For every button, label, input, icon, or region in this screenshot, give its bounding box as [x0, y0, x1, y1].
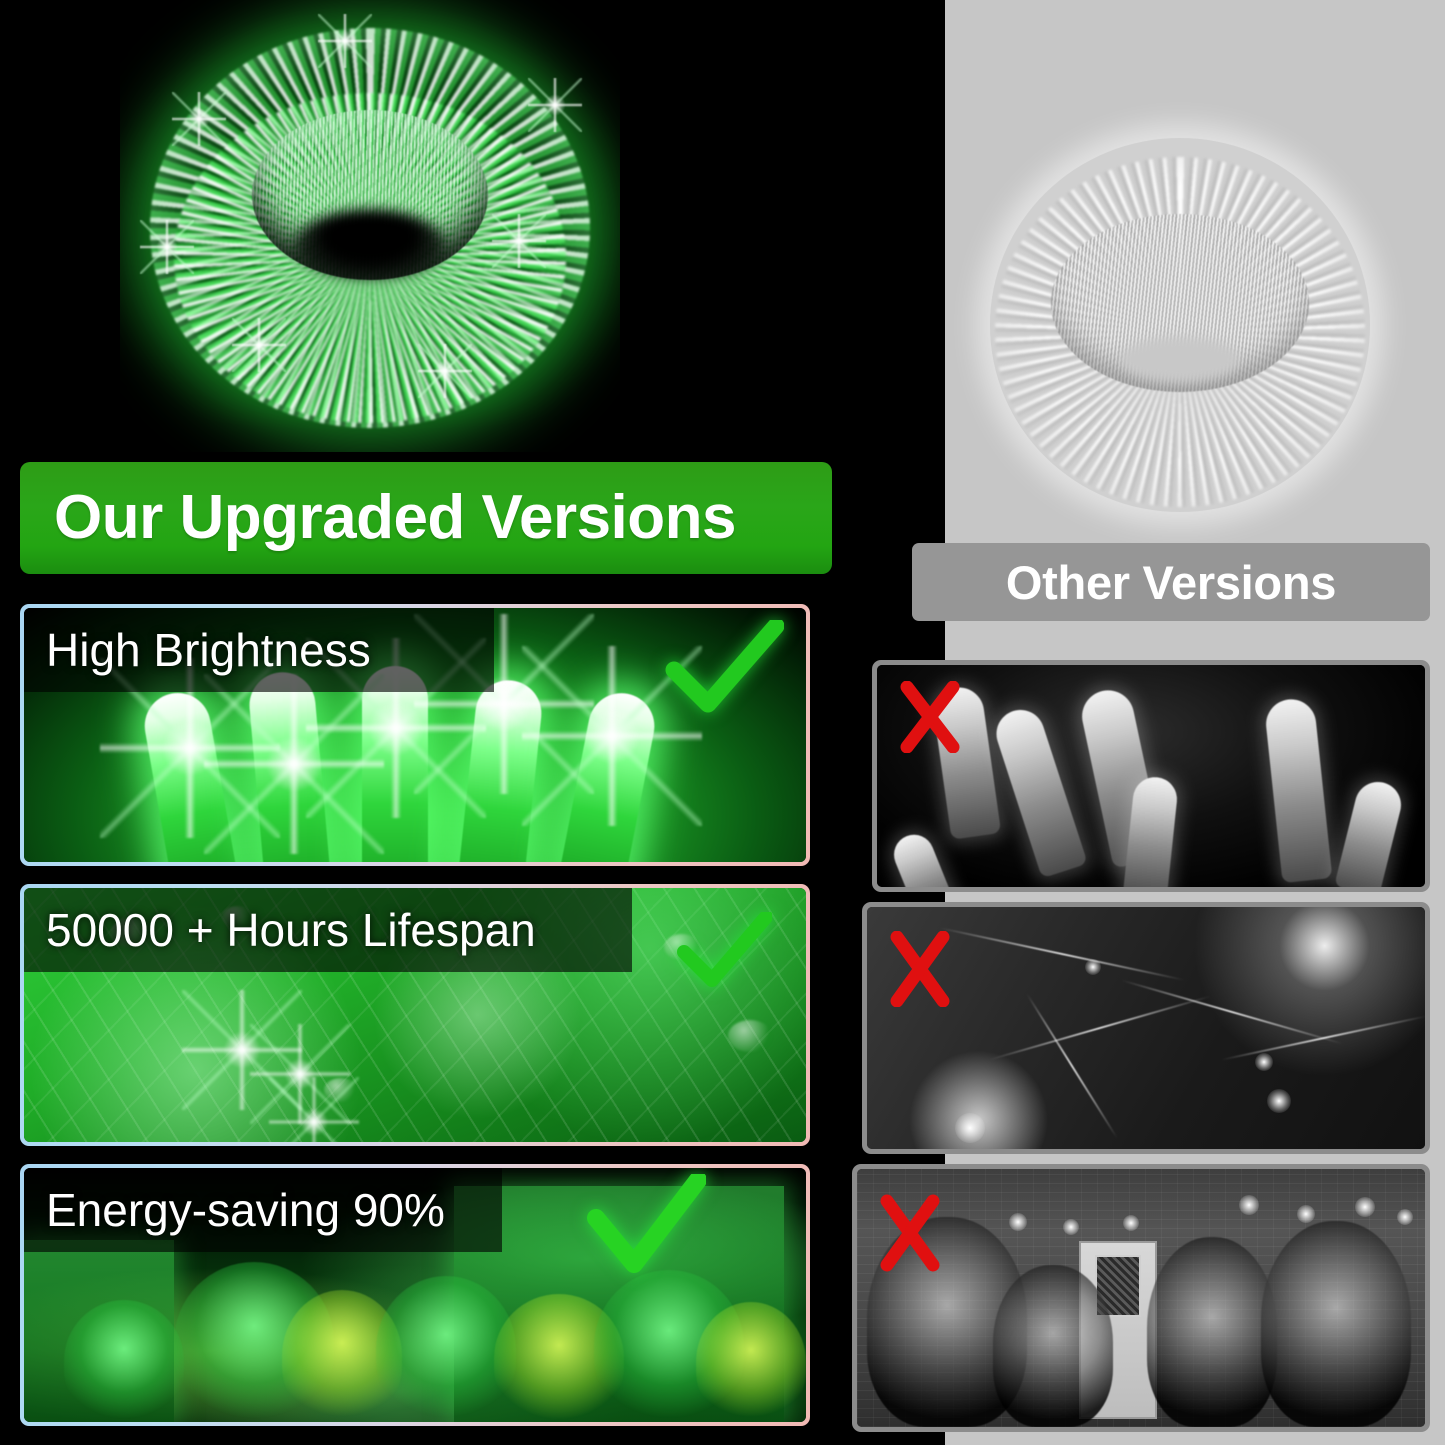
- other-panel-dim-bulbs: [872, 660, 1430, 892]
- cross-icon: [899, 681, 961, 753]
- grey-coil-vignette: [990, 138, 1370, 512]
- check-icon: [676, 912, 772, 990]
- dull-bulb: [888, 829, 958, 887]
- feature-caption-text: Energy-saving 90%: [46, 1187, 445, 1233]
- dull-bulb: [990, 704, 1088, 879]
- lit-point: [1123, 1215, 1139, 1231]
- check-icon: [586, 1174, 706, 1274]
- feature-caption: Energy-saving 90%: [24, 1168, 502, 1252]
- upgraded-versions-section: Our Upgraded Versions High Bri: [0, 0, 945, 1445]
- dull-bulb: [1264, 697, 1333, 883]
- feature-panel-high-brightness: High Brightness: [20, 604, 810, 866]
- lit-point: [1297, 1205, 1315, 1223]
- cross-icon: [889, 931, 951, 1007]
- cross-icon: [879, 1193, 941, 1273]
- other-versions-label: Other Versions: [1006, 559, 1336, 606]
- upgraded-versions-label: Our Upgraded Versions: [54, 487, 736, 549]
- wire-strand: [940, 927, 1185, 981]
- grey-tree: [1261, 1221, 1411, 1427]
- feature-panel-lifespan: 50000 + Hours Lifespan: [20, 884, 810, 1146]
- lit-point: [955, 1113, 985, 1143]
- wire-strand: [1221, 1015, 1425, 1061]
- feature-caption-text: 50000 + Hours Lifespan: [46, 907, 536, 953]
- grey-tree: [993, 1265, 1113, 1427]
- lit-point: [1267, 1089, 1291, 1113]
- feature-panel-energy-saving: Energy-saving 90%: [20, 1164, 810, 1426]
- lit-point: [1085, 959, 1101, 975]
- sparkle-icon: [269, 1077, 359, 1142]
- lit-point: [1239, 1195, 1259, 1215]
- grey-house-image: [857, 1169, 1425, 1427]
- upgraded-versions-banner: Our Upgraded Versions: [20, 462, 832, 574]
- lit-point: [1255, 1053, 1273, 1071]
- other-panel-grey-house: [852, 1164, 1430, 1432]
- feature-caption-text: High Brightness: [46, 627, 371, 673]
- other-panel-faint-wire: [862, 902, 1430, 1154]
- feature-caption: High Brightness: [24, 608, 494, 692]
- lit-point: [1063, 1219, 1079, 1235]
- lit-point: [1009, 1213, 1027, 1231]
- lit-point: [1397, 1209, 1413, 1225]
- lit-point: [1355, 1197, 1375, 1217]
- feature-caption: 50000 + Hours Lifespan: [24, 888, 632, 972]
- green-led-coil-image: [120, 0, 620, 452]
- sparkle-icon: [204, 674, 384, 854]
- grey-led-coil-image: [990, 138, 1370, 512]
- lit-tree: [696, 1302, 806, 1422]
- wire-strand: [989, 995, 1211, 1060]
- dull-bulb: [1334, 777, 1406, 887]
- product-comparison-infographic: Our Upgraded Versions High Bri: [0, 0, 1445, 1445]
- wire-strand: [1026, 993, 1118, 1138]
- check-icon: [664, 620, 784, 716]
- coil-center-hole: [295, 209, 445, 279]
- other-versions-banner: Other Versions: [912, 543, 1430, 621]
- grey-tree: [1147, 1237, 1277, 1427]
- lit-tree: [64, 1300, 184, 1422]
- water-droplet: [728, 1020, 772, 1052]
